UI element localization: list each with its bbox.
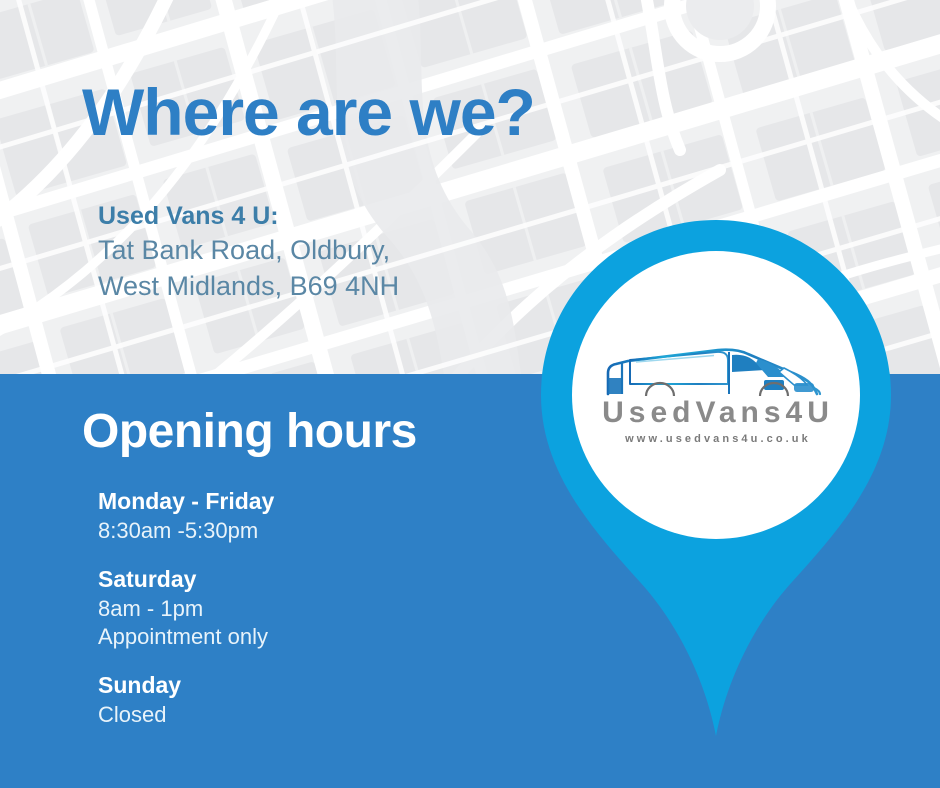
hours-detail: 8:30am -5:30pm bbox=[98, 517, 518, 546]
address-block: Used Vans 4 U: Tat Bank Road, Oldbury, W… bbox=[98, 200, 399, 305]
hours-day-label: Monday - Friday bbox=[98, 486, 518, 517]
map-pin bbox=[520, 212, 920, 752]
hours-detail: 8am - 1pm bbox=[98, 595, 518, 624]
opening-hours-list: Monday - Friday 8:30am -5:30pm Saturday … bbox=[98, 486, 518, 730]
hours-detail: Closed bbox=[98, 701, 518, 730]
address-line-1: Tat Bank Road, Oldbury, bbox=[98, 233, 399, 269]
hours-day-label: Saturday bbox=[98, 564, 518, 595]
location-poster: Where are we? Used Vans 4 U: Tat Bank Ro… bbox=[0, 0, 940, 788]
hours-group-sunday: Sunday Closed bbox=[98, 670, 518, 730]
page-title: Where are we? bbox=[82, 78, 535, 147]
hours-detail-note: Appointment only bbox=[98, 623, 518, 652]
hours-group-saturday: Saturday 8am - 1pm Appointment only bbox=[98, 564, 518, 652]
business-name: Used Vans 4 U: bbox=[98, 200, 399, 233]
opening-hours-title: Opening hours bbox=[82, 404, 417, 459]
map-pin-icon bbox=[520, 212, 920, 752]
hours-day-label: Sunday bbox=[98, 670, 518, 701]
address-line-2: West Midlands, B69 4NH bbox=[98, 269, 399, 305]
hours-group-weekday: Monday - Friday 8:30am -5:30pm bbox=[98, 486, 518, 546]
